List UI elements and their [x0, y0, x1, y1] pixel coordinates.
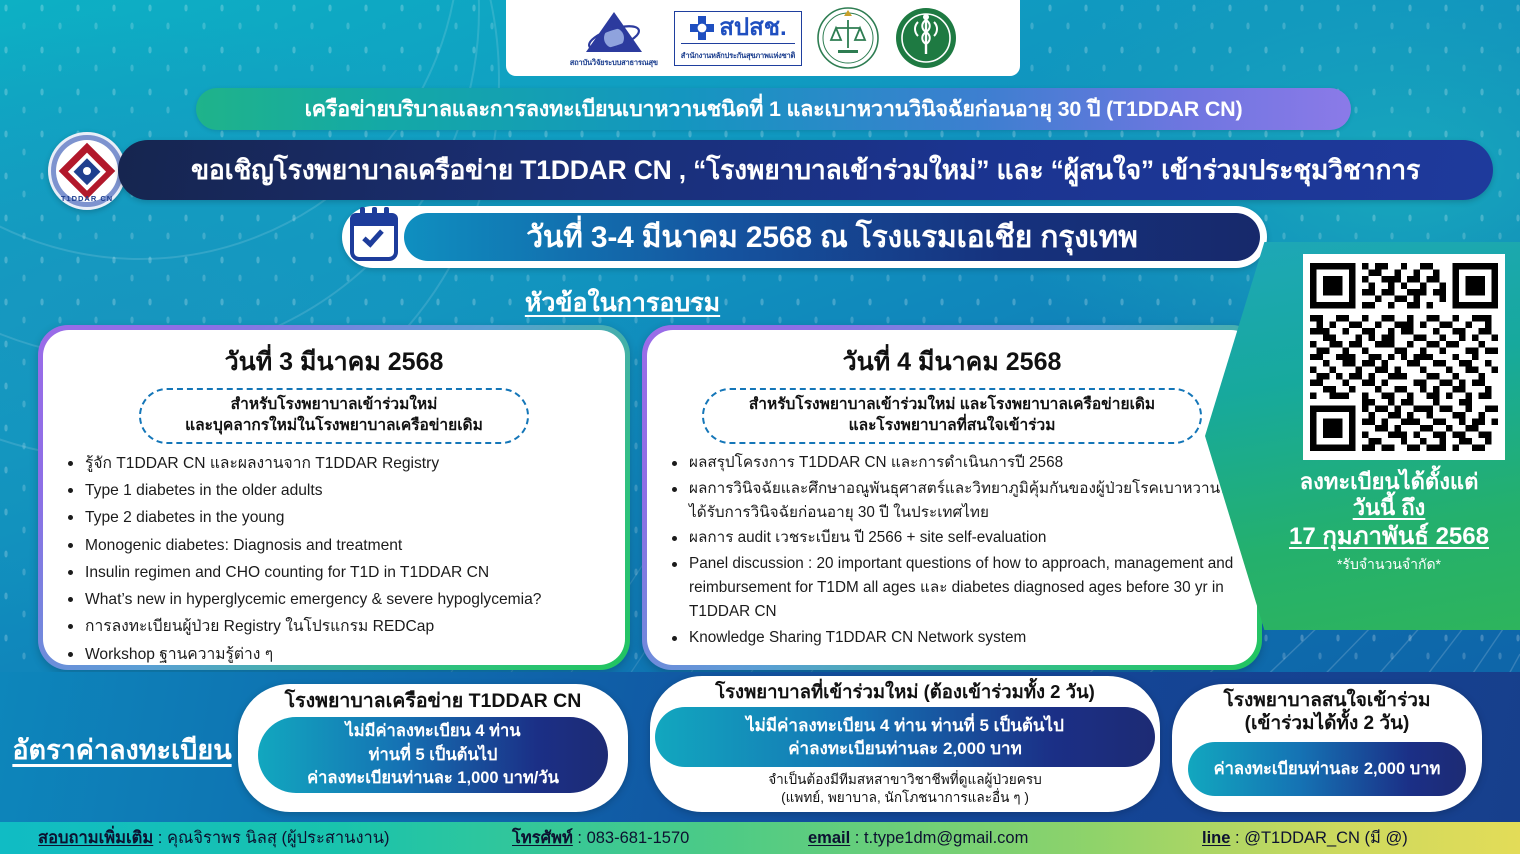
day2-topic-list: ผลสรุปโครงการ T1DDAR CN และการดำเนินการป…: [661, 451, 1243, 650]
qr-code[interactable]: [1303, 254, 1505, 460]
price-card-new-hospital-title: โรงพยาบาลที่เข้าร่วมใหม่ (ต้องเข้าร่วมทั…: [715, 681, 1095, 703]
footer-email-label: email: [808, 829, 850, 847]
logo-diamond-outer: [59, 143, 116, 200]
list-item: Insulin regimen and CHO counting for T1D…: [63, 560, 611, 585]
registration-note: *รับจำนวนจำกัด*: [1258, 554, 1520, 576]
invitation-text: ขอเชิญโรงพยาบาลเครือข่าย T1DDAR CN , “โร…: [191, 149, 1420, 191]
price-card-new-hospital-pill: ไม่มีค่าลงทะเบียน 4 ท่าน ท่านที่ 5 เป็นต…: [655, 707, 1155, 767]
date-venue-text: วันที่ 3-4 มีนาคม 2568 ณ โรงแรมเอเชีย กร…: [526, 214, 1138, 261]
price-new-line1: ไม่มีค่าลงทะเบียน 4 ท่าน ท่านที่ 5 เป็นต…: [746, 714, 1064, 737]
day2-title: วันที่ 4 มีนาคม 2568: [661, 342, 1243, 382]
list-item: What’s new in hyperglycemic emergency & …: [63, 587, 611, 612]
footer-email-value: : t.type1dm@gmail.com: [850, 829, 1028, 847]
price-new-line2: ค่าลงทะเบียนท่านละ 2,000 บาท: [788, 737, 1022, 760]
invitation-banner: ขอเชิญโรงพยาบาลเครือข่าย T1DDAR CN , “โร…: [118, 140, 1493, 200]
list-item: Workshop ฐานความรู้ต่าง ๆ: [63, 642, 611, 667]
footer-phone-value: : 083-681-1570: [573, 829, 690, 847]
price-note-line2: (แพทย์, พยาบาล, นักโภชนาการและอื่น ๆ ): [768, 789, 1042, 807]
footer-phone-label: โทรศัพท์: [512, 829, 573, 847]
sponsor-logo-strip: สถาบันวิจัยระบบสาธารณสุข สปสช. สำนักงานห…: [506, 0, 1020, 76]
price-card-interested-pill: ค่าลงทะเบียนท่านละ 2,000 บาท: [1188, 742, 1466, 796]
list-item: การลงทะเบียนผู้ป่วย Registry ในโปรแกรม R…: [63, 614, 611, 639]
price-note-line1: จำเป็นต้องมีทีมสหสาขาวิชาชีพที่ดูแลผู้ป่…: [768, 771, 1042, 789]
day2-audience-line2: และโรงพยาบาลที่สนใจเข้าร่วม: [720, 416, 1184, 437]
footer-line-label: line: [1202, 829, 1230, 847]
network-title-banner: เครือข่ายบริบาลและการลงทะเบียนเบาหวานชนิ…: [196, 88, 1351, 130]
calendar-icon: [350, 213, 398, 261]
nhso-logo-caption: สำนักงานหลักประกันสุขภาพแห่งชาติ: [681, 51, 795, 60]
ministry-of-public-health-logo: [894, 6, 958, 70]
day1-topic-list: รู้จัก T1DDAR CN และผลงานจาก T1DDAR Regi…: [57, 451, 611, 667]
pricing-label: อัตราค่าลงทะเบียน: [6, 728, 238, 771]
day2-audience-line1: สำหรับโรงพยาบาลเข้าร่วมใหม่ และโรงพยาบาล…: [720, 395, 1184, 416]
price-card-interested-title: โรงพยาบาลสนใจเข้าร่วม (เข้าร่วมได้ทั้ง 2…: [1224, 690, 1431, 736]
day1-audience: สำหรับโรงพยาบาลเข้าร่วมใหม่ และบุคลากรให…: [139, 388, 529, 444]
list-item: ผลสรุปโครงการ T1DDAR CN และการดำเนินการป…: [667, 451, 1243, 475]
logo-diamond-inner: [74, 158, 101, 185]
hsri-logo: สถาบันวิจัยระบบสาธารณสุข: [568, 8, 660, 69]
list-item: รู้จัก T1DDAR CN และผลงานจาก T1DDAR Regi…: [63, 451, 611, 476]
price-card-new-hospital: โรงพยาบาลที่เข้าร่วมใหม่ (ต้องเข้าร่วมทั…: [650, 676, 1160, 812]
price-card-network: โรงพยาบาลเครือข่าย T1DDAR CN ไม่มีค่าลงท…: [238, 684, 628, 812]
moph-logo-mark: [894, 6, 958, 70]
hsri-logo-mark: [568, 8, 660, 56]
day1-title: วันที่ 3 มีนาคม 2568: [57, 342, 611, 382]
day1-audience-line2: และบุคลากรใหม่ในโรงพยาบาลเครือข่ายเดิม: [157, 416, 511, 437]
list-item: Type 2 diabetes in the young: [63, 505, 611, 530]
day2-audience: สำหรับโรงพยาบาลเข้าร่วมใหม่ และโรงพยาบาล…: [702, 388, 1202, 444]
price-interested-title-line1: โรงพยาบาลสนใจเข้าร่วม: [1224, 690, 1431, 713]
logo-center-dot: [81, 165, 92, 176]
day1-card-inner: วันที่ 3 มีนาคม 2568 สำหรับโรงพยาบาลเข้า…: [43, 330, 625, 665]
nhso-logo-text: สปสช.: [719, 16, 787, 40]
network-title-text: เครือข่ายบริบาลและการลงทะเบียนเบาหวานชนิ…: [305, 92, 1243, 126]
footer-line[interactable]: line : @T1DDAR_CN (มี @): [1202, 825, 1408, 851]
registration-deadline: 17 กุมภาพันธ์ 2568: [1258, 521, 1520, 552]
nhso-cross-icon: [689, 15, 715, 41]
footer-line-value: : @T1DDAR_CN (มี @): [1230, 829, 1407, 847]
date-venue-pill: วันที่ 3-4 มีนาคม 2568 ณ โรงแรมเอเชีย กร…: [404, 213, 1260, 261]
list-item: ผลการวินิจฉัยและศึกษาอณูพันธุศาสตร์และวิ…: [667, 477, 1243, 525]
logo-badge-label: T1DDAR CN: [56, 194, 118, 203]
price-network-line1: ไม่มีค่าลงทะเบียน 4 ท่าน: [345, 720, 520, 743]
nhso-logo: สปสช. สำนักงานหลักประกันสุขภาพแห่งชาติ: [674, 11, 802, 66]
logo-diamond-middle: [68, 152, 106, 190]
price-card-network-title: โรงพยาบาลเครือข่าย T1DDAR CN: [285, 690, 582, 713]
price-interested-title-line2: (เข้าร่วมได้ทั้ง 2 วัน): [1224, 713, 1431, 736]
logo-ring: T1DDAR CN: [56, 140, 118, 202]
list-item: Monogenic diabetes: Diagnosis and treatm…: [63, 533, 611, 558]
footer-contact-label: สอบถามเพิ่มเติม: [38, 829, 153, 847]
royal-college-logo-mark: [816, 6, 880, 70]
qr-code-image: [1310, 261, 1498, 453]
day2-card: วันที่ 4 มีนาคม 2568 สำหรับโรงพยาบาลเข้า…: [642, 325, 1262, 670]
registration-info: ลงทะเบียนได้ตั้งแต่ วันนี้ ถึง 17 กุมภาพ…: [1258, 470, 1520, 576]
day1-audience-line1: สำหรับโรงพยาบาลเข้าร่วมใหม่: [157, 395, 511, 416]
date-venue-bar: วันที่ 3-4 มีนาคม 2568 ณ โรงแรมเอเชีย กร…: [342, 206, 1267, 268]
day2-card-inner: วันที่ 4 มีนาคม 2568 สำหรับโรงพยาบาลเข้า…: [647, 330, 1257, 665]
footer-email[interactable]: email : t.type1dm@gmail.com: [808, 829, 1028, 848]
list-item: Knowledge Sharing T1DDAR CN Network syst…: [667, 626, 1243, 650]
list-item: ผลการ audit เวชระเบียน ปี 2566 + site se…: [667, 526, 1243, 550]
registration-line1: ลงทะเบียนได้ตั้งแต่: [1258, 470, 1520, 495]
price-card-new-hospital-note: จำเป็นต้องมีทีมสหสาขาวิชาชีพที่ดูแลผู้ป่…: [768, 771, 1042, 807]
price-network-line3: ค่าลงทะเบียนท่านละ 1,000 บาท/วัน: [307, 767, 559, 790]
t1ddar-cn-logo-badge: T1DDAR CN: [48, 132, 126, 210]
poster-canvas: สถาบันวิจัยระบบสาธารณสุข สปสช. สำนักงานห…: [0, 0, 1520, 854]
footer-contact-value: : คุณจิราพร นิลสุ (ผู้ประสานงาน): [153, 829, 389, 847]
list-item: Type 1 diabetes in the older adults: [63, 478, 611, 503]
footer-contact: สอบถามเพิ่มเติม : คุณจิราพร นิลสุ (ผู้ปร…: [38, 825, 390, 851]
royal-college-logo: [816, 6, 880, 70]
registration-line2: วันนี้ ถึง: [1258, 495, 1520, 521]
contact-footer: สอบถามเพิ่มเติม : คุณจิราพร นิลสุ (ผู้ปร…: [0, 822, 1520, 854]
price-card-interested: โรงพยาบาลสนใจเข้าร่วม (เข้าร่วมได้ทั้ง 2…: [1172, 684, 1482, 812]
price-card-network-pill: ไม่มีค่าลงทะเบียน 4 ท่าน ท่านที่ 5 เป็นต…: [258, 717, 608, 793]
price-network-line2: ท่านที่ 5 เป็นต้นไป: [369, 744, 498, 767]
day1-card: วันที่ 3 มีนาคม 2568 สำหรับโรงพยาบาลเข้า…: [38, 325, 630, 670]
footer-phone[interactable]: โทรศัพท์ : 083-681-1570: [512, 825, 689, 851]
hsri-logo-caption: สถาบันวิจัยระบบสาธารณสุข: [570, 57, 658, 69]
topics-heading: หัวข้อในการอบรม: [0, 283, 1245, 323]
list-item: Panel discussion : 20 important question…: [667, 552, 1243, 624]
